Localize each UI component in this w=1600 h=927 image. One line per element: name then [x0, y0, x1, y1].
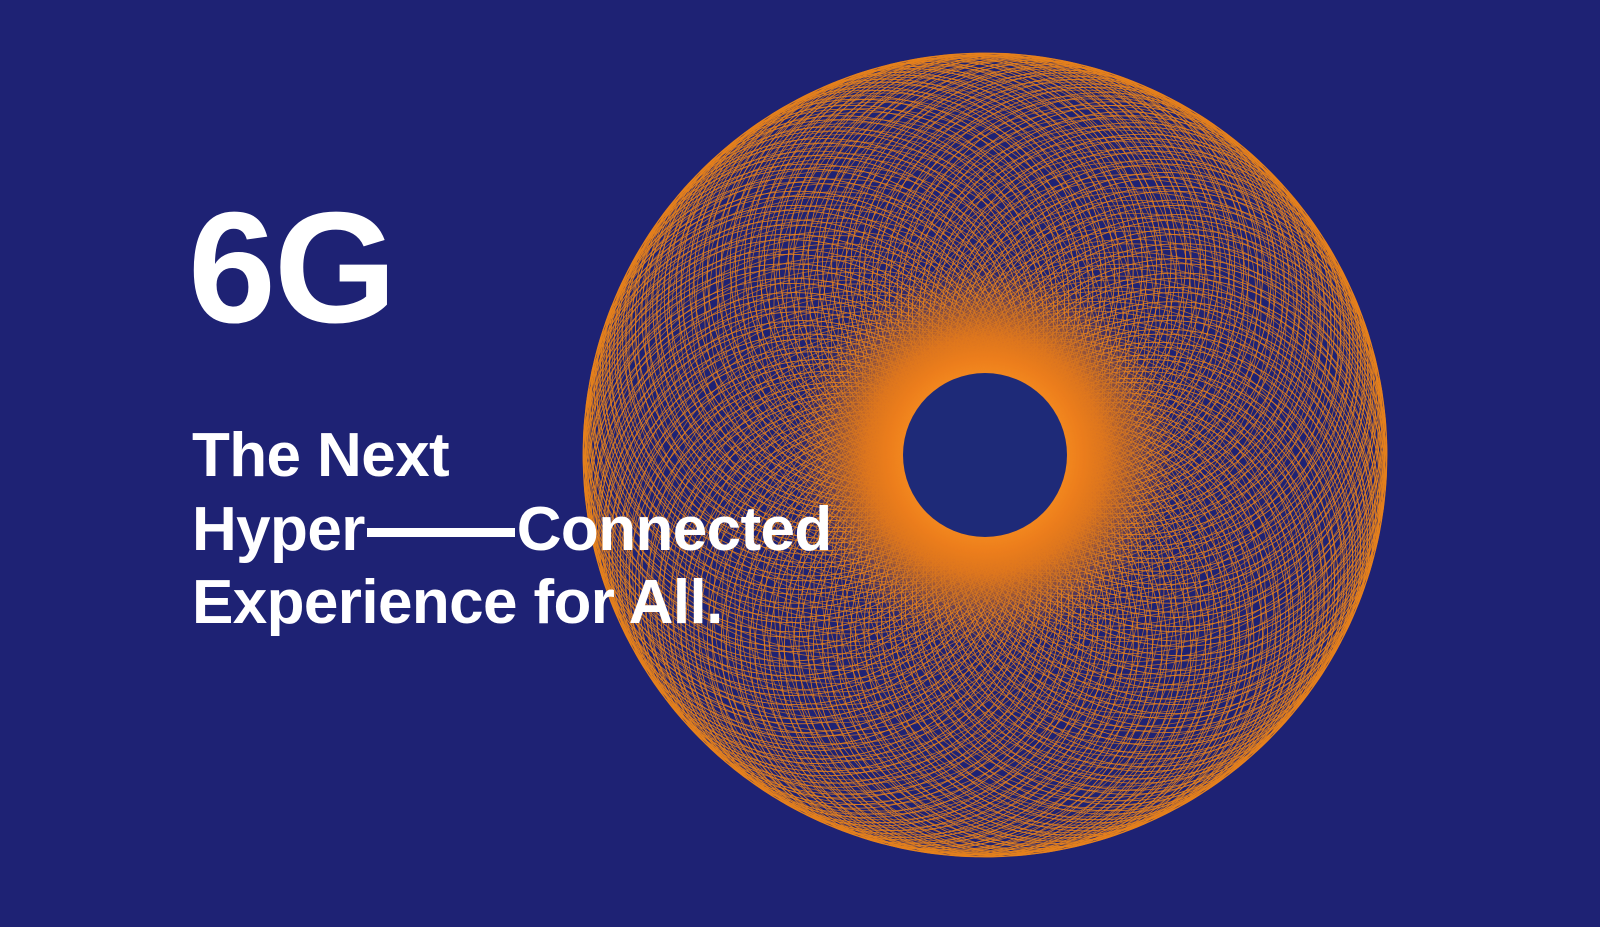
inner-disc [903, 373, 1067, 537]
tagline-connected: Connected [517, 495, 832, 564]
tagline-line-2: HyperConnected [192, 493, 892, 566]
tagline-line-3: Experience for All. [192, 566, 892, 639]
page-title: 6G [188, 196, 892, 341]
hero-banner: 6G The Next HyperConnected Experience fo… [0, 0, 1600, 927]
em-dash-rule [367, 528, 515, 537]
hero-text-block: 6G The Next HyperConnected Experience fo… [192, 196, 892, 639]
hero-tagline: The Next HyperConnected Experience for A… [192, 419, 892, 638]
tagline-hyper: Hyper [192, 495, 365, 564]
tagline-line-1: The Next [192, 419, 892, 492]
